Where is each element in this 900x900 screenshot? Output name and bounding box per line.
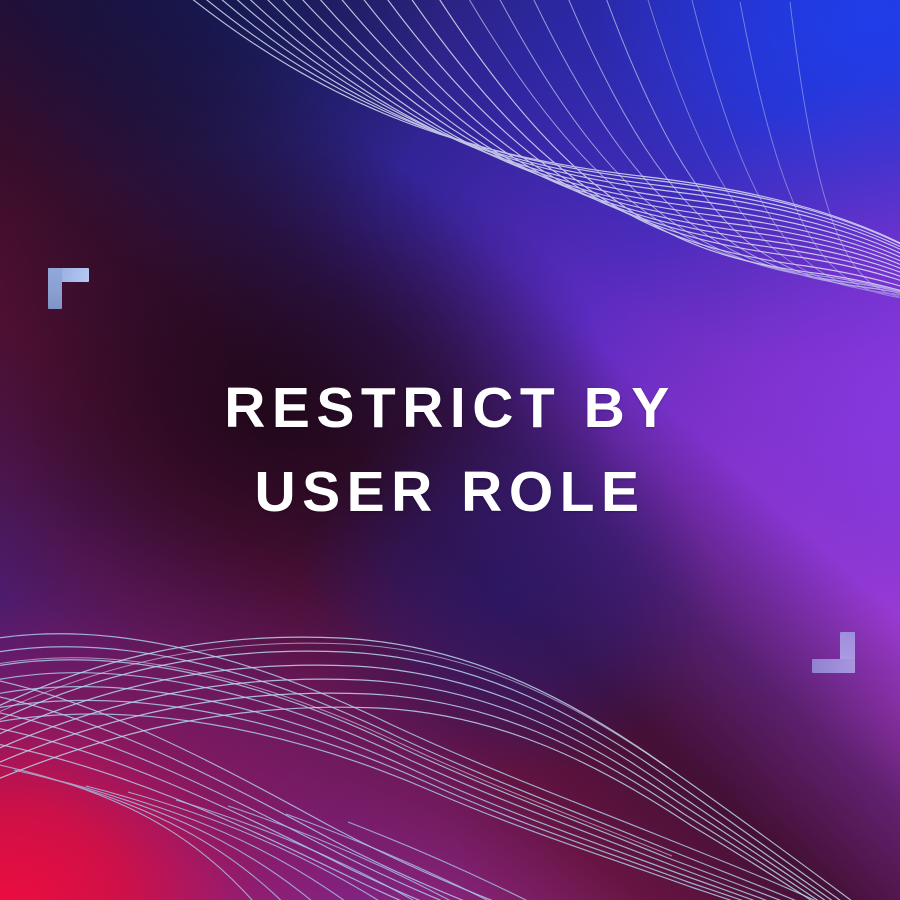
bracket-horizontal-arm <box>812 659 855 673</box>
headline-line-1: RESTRICT BY <box>0 366 900 450</box>
headline-line-2: USER ROLE <box>0 450 900 534</box>
corner-bracket-top-left-icon <box>48 268 89 309</box>
bracket-vertical-arm <box>48 268 62 309</box>
corner-bracket-bottom-right-icon <box>812 632 855 673</box>
poster-canvas: RESTRICT BY USER ROLE <box>0 0 900 900</box>
poster-headline: RESTRICT BY USER ROLE <box>0 366 900 534</box>
